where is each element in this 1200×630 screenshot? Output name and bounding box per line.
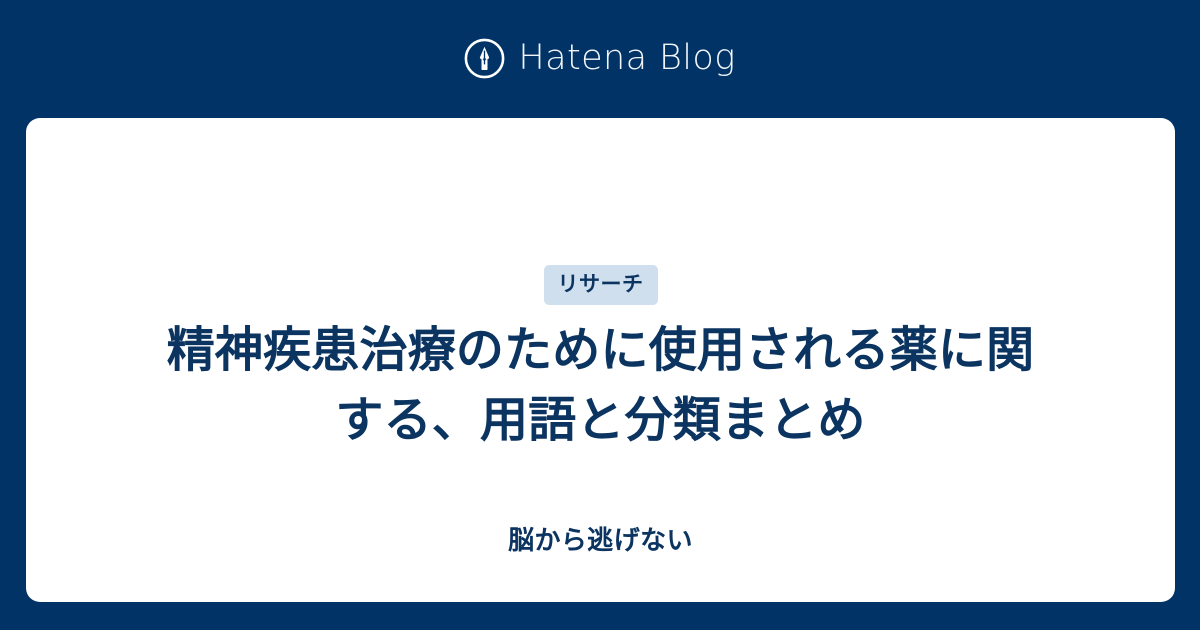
entry-card: リサーチ 精神疾患治療のために使用される薬に関する、用語と分類まとめ 脳から逃げ…	[26, 118, 1175, 602]
site-header: Hatena Blog	[0, 0, 1200, 118]
blog-name: 脳から逃げない	[508, 525, 693, 556]
fountain-pen-nib-in-circle-icon	[464, 38, 505, 79]
ogp-card-canvas: Hatena Blog リサーチ 精神疾患治療のために使用される薬に関する、用語…	[0, 0, 1200, 630]
blog-name-row: 脳から逃げない	[26, 525, 1175, 556]
entry-title: 精神疾患治療のために使用される薬に関する、用語と分類まとめ	[161, 316, 1041, 456]
category-badge[interactable]: リサーチ	[544, 265, 658, 305]
category-row: リサーチ	[82, 265, 1119, 305]
service-name-label: Hatena Blog	[518, 41, 735, 76]
